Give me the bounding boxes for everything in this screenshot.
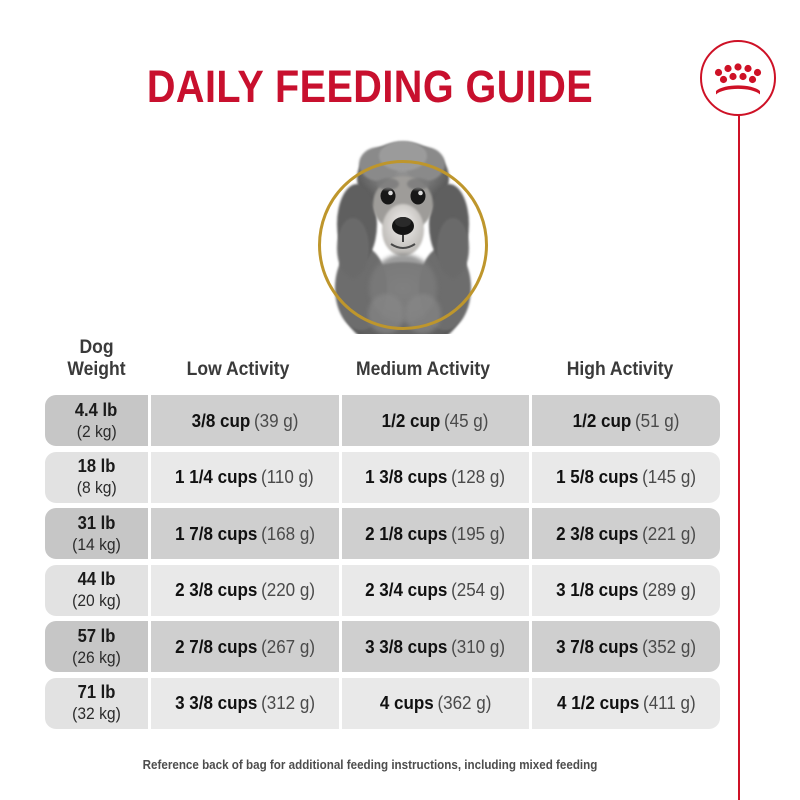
cell-dog-weight: 31 lb (14 kg): [45, 508, 148, 559]
amount-medium: 2 1/8 cups(195 g): [366, 523, 506, 545]
amount-low: 1 1/4 cups(110 g): [175, 466, 314, 488]
weight-kg: (14 kg): [72, 534, 121, 555]
column-header-dog-weight-line2: Weight: [67, 358, 125, 380]
amount-low: 1 7/8 cups(168 g): [175, 523, 315, 545]
amount-high: 1 5/8 cups(145 g): [556, 466, 696, 488]
table-column-headers: Dog Weight Low Activity Medium Activity …: [45, 318, 720, 380]
amount-medium: 1/2 cup(45 g): [382, 410, 489, 432]
footnote: Reference back of bag for additional fee…: [26, 758, 714, 772]
dog-portrait: [318, 160, 488, 330]
brand-mark: [700, 40, 780, 120]
weight-kg: (20 kg): [72, 590, 121, 611]
table-row: 4.4 lb (2 kg) 3/8 cup(39 g) 1/2 cup(45 g…: [45, 395, 720, 446]
cell-dog-weight: 18 lb (8 kg): [45, 452, 148, 503]
cell-dog-weight: 44 lb (20 kg): [45, 565, 148, 616]
column-header-high-activity: High Activity: [532, 358, 708, 380]
feeding-table: 4.4 lb (2 kg) 3/8 cup(39 g) 1/2 cup(45 g…: [45, 395, 720, 734]
weight-lb: 18 lb: [78, 456, 116, 477]
portrait-ring: [318, 160, 488, 330]
amount-high: 4 1/2 cups(411 g): [557, 692, 696, 714]
weight-kg: (8 kg): [77, 477, 117, 498]
table-row: 57 lb (26 kg) 2 7/8 cups(267 g) 3 3/8 cu…: [45, 621, 720, 672]
cell-medium-activity: 2 1/8 cups(195 g): [342, 508, 530, 559]
weight-lb: 44 lb: [78, 569, 116, 590]
column-header-medium-activity: Medium Activity: [338, 358, 509, 380]
cell-high-activity: 4 1/2 cups(411 g): [532, 678, 720, 729]
table-row: 18 lb (8 kg) 1 1/4 cups(110 g) 1 3/8 cup…: [45, 452, 720, 503]
cell-medium-activity: 1/2 cup(45 g): [342, 395, 530, 446]
cell-high-activity: 3 7/8 cups(352 g): [532, 621, 720, 672]
table-row: 31 lb (14 kg) 1 7/8 cups(168 g) 2 1/8 cu…: [45, 508, 720, 559]
weight-lb: 71 lb: [78, 682, 116, 703]
cell-low-activity: 2 3/8 cups(220 g): [151, 565, 339, 616]
column-header-dog-weight: Dog Weight: [50, 336, 143, 380]
cell-dog-weight: 57 lb (26 kg): [45, 621, 148, 672]
amount-medium: 3 3/8 cups(310 g): [366, 636, 506, 658]
column-header-low-activity: Low Activity: [161, 358, 316, 380]
cell-medium-activity: 2 3/4 cups(254 g): [342, 565, 530, 616]
amount-low: 2 3/8 cups(220 g): [175, 579, 315, 601]
weight-lb: 57 lb: [78, 626, 116, 647]
page-title: DAILY FEEDING GUIDE: [44, 61, 695, 113]
column-header-dog-weight-line1: Dog: [79, 336, 113, 358]
amount-high: 3 7/8 cups(352 g): [556, 636, 696, 658]
weight-lb: 31 lb: [78, 513, 116, 534]
brand-stem-line: [738, 114, 740, 800]
table-row: 71 lb (32 kg) 3 3/8 cups(312 g) 4 cups(3…: [45, 678, 720, 729]
cell-high-activity: 2 3/8 cups(221 g): [532, 508, 720, 559]
cell-dog-weight: 71 lb (32 kg): [45, 678, 148, 729]
cell-low-activity: 1 7/8 cups(168 g): [151, 508, 339, 559]
amount-medium: 4 cups(362 g): [380, 692, 492, 714]
amount-high: 3 1/8 cups(289 g): [556, 579, 696, 601]
table-row: 44 lb (20 kg) 2 3/8 cups(220 g) 2 3/4 cu…: [45, 565, 720, 616]
cell-high-activity: 1 5/8 cups(145 g): [532, 452, 720, 503]
cell-low-activity: 2 7/8 cups(267 g): [151, 621, 339, 672]
cell-low-activity: 1 1/4 cups(110 g): [151, 452, 339, 503]
amount-low: 2 7/8 cups(267 g): [175, 636, 315, 658]
daily-feeding-guide-page: DAILY FEEDING GUIDE: [0, 0, 800, 800]
cell-dog-weight: 4.4 lb (2 kg): [45, 395, 148, 446]
amount-high: 2 3/8 cups(221 g): [556, 523, 696, 545]
cell-medium-activity: 1 3/8 cups(128 g): [342, 452, 530, 503]
amount-high: 1/2 cup(51 g): [573, 410, 680, 432]
amount-low: 3/8 cup(39 g): [191, 410, 298, 432]
cell-high-activity: 1/2 cup(51 g): [532, 395, 720, 446]
amount-low: 3 3/8 cups(312 g): [175, 692, 315, 714]
weight-kg: (32 kg): [72, 703, 121, 724]
weight-lb: 4.4 lb: [75, 400, 117, 421]
royal-canin-crown-icon: [714, 61, 762, 95]
cell-high-activity: 3 1/8 cups(289 g): [532, 565, 720, 616]
cell-low-activity: 3 3/8 cups(312 g): [151, 678, 339, 729]
weight-kg: (2 kg): [77, 421, 117, 442]
cell-medium-activity: 3 3/8 cups(310 g): [342, 621, 530, 672]
amount-medium: 1 3/8 cups(128 g): [366, 466, 506, 488]
cell-medium-activity: 4 cups(362 g): [342, 678, 530, 729]
weight-kg: (26 kg): [72, 647, 121, 668]
amount-medium: 2 3/4 cups(254 g): [366, 579, 506, 601]
cell-low-activity: 3/8 cup(39 g): [151, 395, 339, 446]
